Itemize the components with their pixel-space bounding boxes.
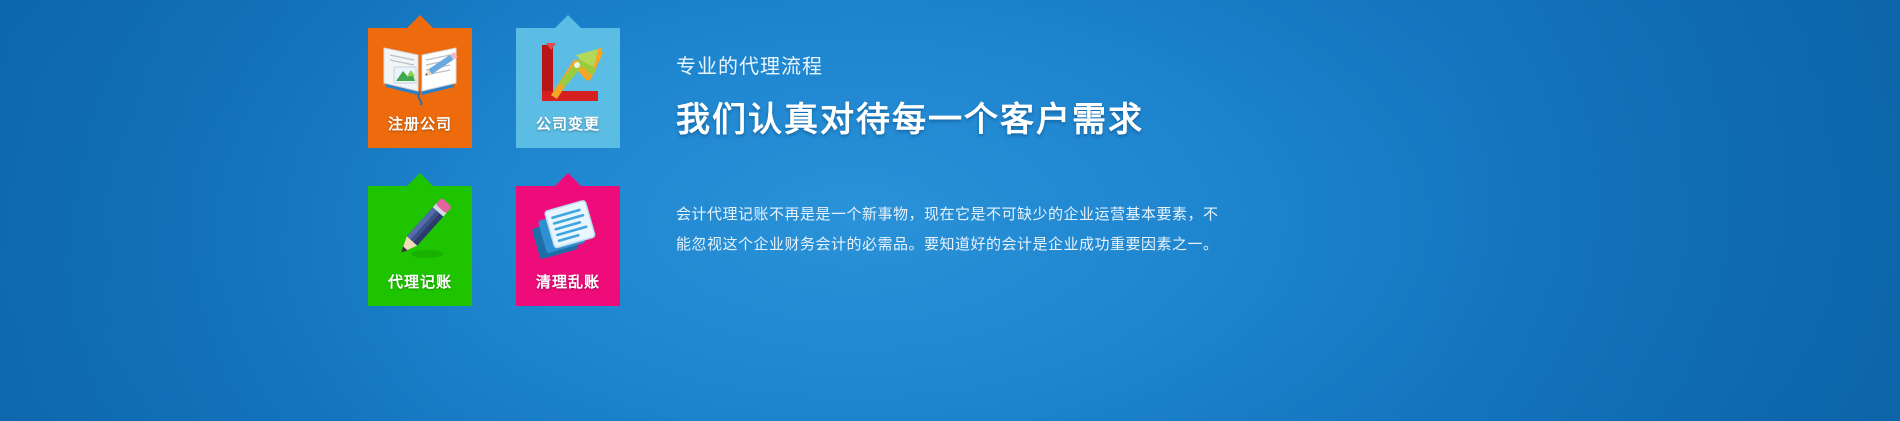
tile-label: 代理记账 [368, 271, 472, 306]
tile-notch [555, 15, 581, 28]
banner-body-line-1: 会计代理记账不再是是一个新事物，现在它是不可缺少的企业运营基本要素，不 [676, 199, 1236, 229]
documents-stack-icon [516, 194, 620, 270]
tile-clean-accounts[interactable]: 清理乱账 [516, 186, 620, 306]
banner-kicker: 专业的代理流程 [676, 56, 1776, 76]
promo-banner: 注册公司 公司变更 [0, 0, 1900, 421]
banner-body-line-2: 能忽视这个企业财务会计的必需品。要知道好的会计是企业成功重要因素之一。 [676, 229, 1236, 259]
tile-notch [407, 15, 433, 28]
tile-notch [407, 173, 433, 186]
tile-label: 公司变更 [516, 113, 620, 148]
tile-agency-bookkeeping[interactable]: 代理记账 [368, 186, 472, 306]
tile-notch [555, 173, 581, 186]
banner-copy: 专业的代理流程 我们认真对待每一个客户需求 会计代理记账不再是是一个新事物，现在… [676, 56, 1776, 259]
pencil-icon [368, 194, 472, 270]
tile-company-change[interactable]: 公司变更 [516, 28, 620, 148]
open-book-icon [368, 36, 472, 112]
chart-arrow-icon [516, 36, 620, 112]
service-tile-grid: 注册公司 公司变更 [368, 28, 620, 306]
banner-headline: 我们认真对待每一个客户需求 [676, 102, 1776, 139]
tile-register-company[interactable]: 注册公司 [368, 28, 472, 148]
tile-label: 注册公司 [368, 113, 472, 148]
tile-label: 清理乱账 [516, 271, 620, 306]
banner-body: 会计代理记账不再是是一个新事物，现在它是不可缺少的企业运营基本要素，不 能忽视这… [676, 199, 1236, 259]
